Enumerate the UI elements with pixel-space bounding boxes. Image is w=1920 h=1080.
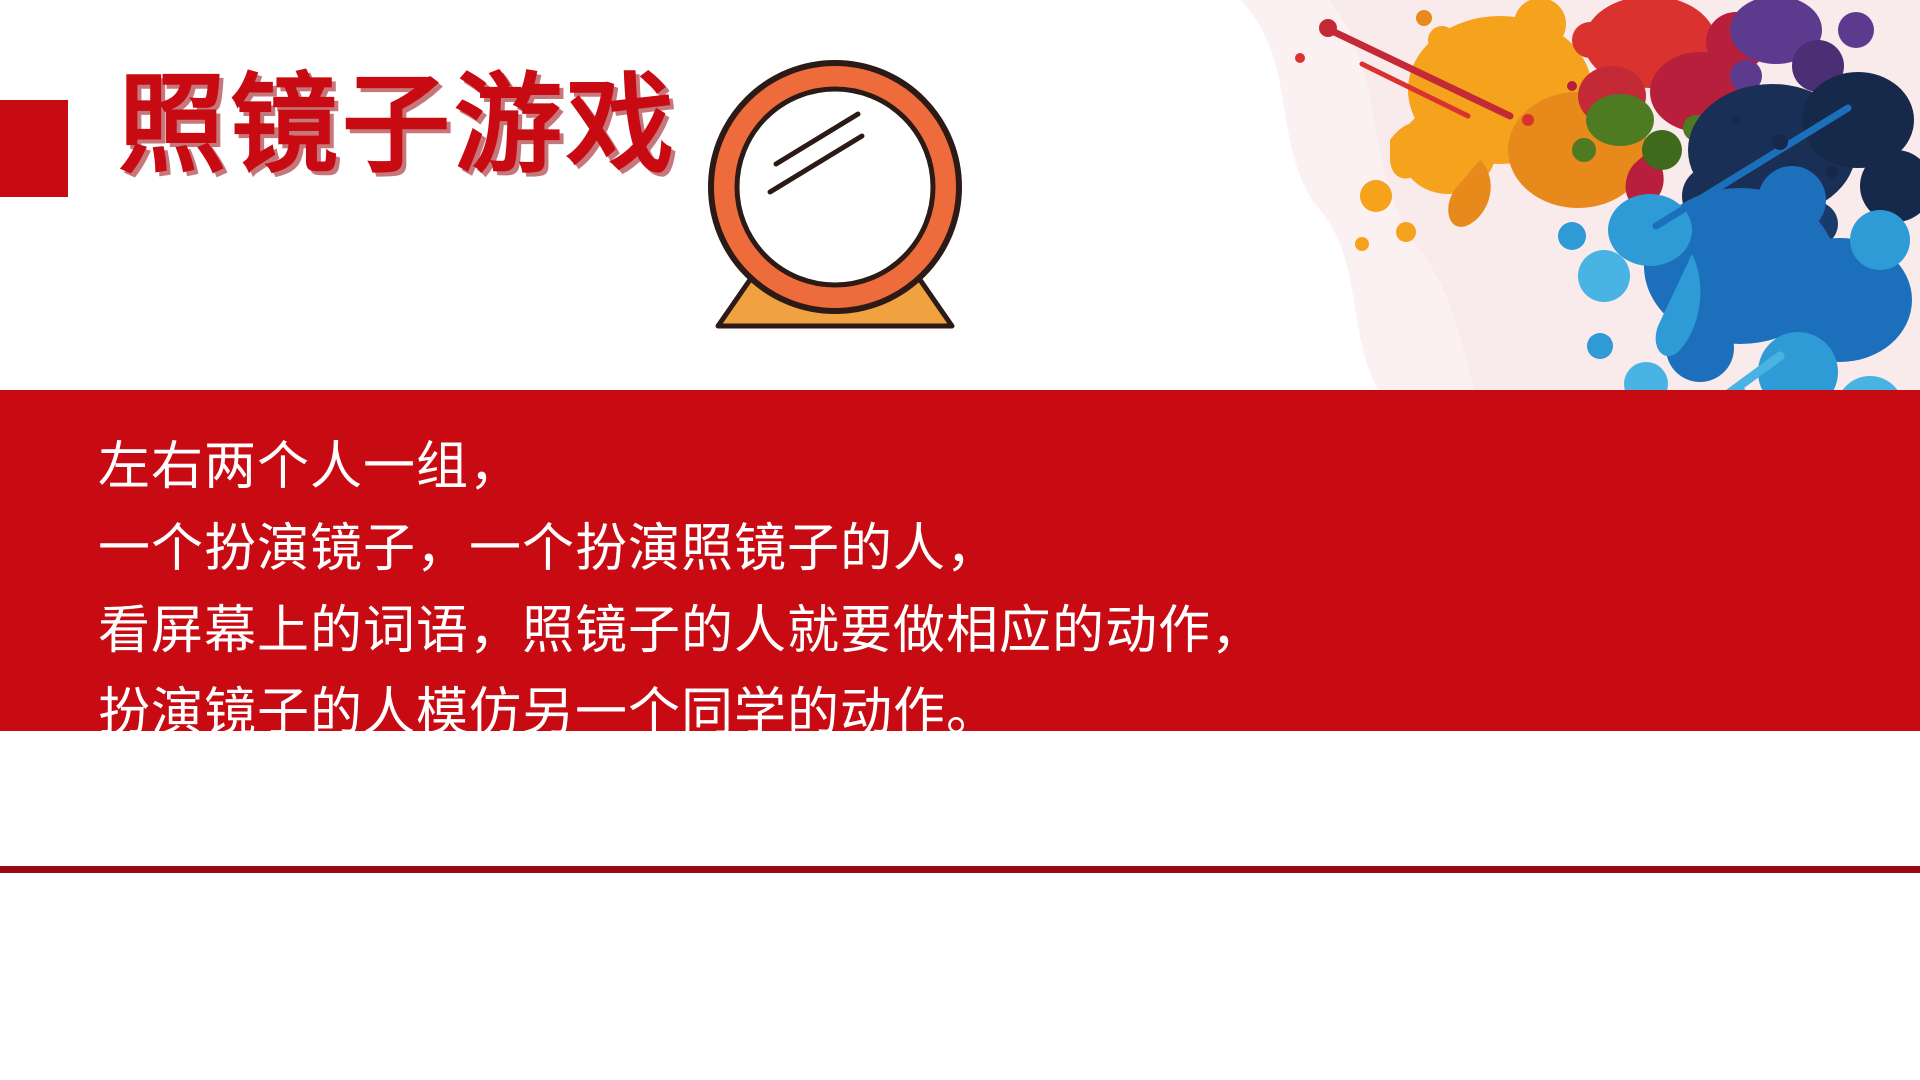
page-title: 照镜子游戏 — [118, 60, 678, 190]
footer-zone — [0, 873, 1920, 1080]
body-line-1: 左右两个人一组， — [98, 426, 1798, 508]
hand-mirror-icon — [690, 52, 980, 332]
body-text-block: 左右两个人一组， 一个扮演镜子，一个扮演照镜子的人， 看屏幕上的词语，照镜子的人… — [98, 426, 1798, 754]
bottom-white-zone — [0, 731, 1920, 866]
title-accent-block — [0, 100, 68, 197]
slide-header: 照镜子游戏 — [0, 0, 1920, 390]
body-line-2: 一个扮演镜子，一个扮演照镜子的人， — [98, 508, 1798, 590]
body-band: 左右两个人一组， 一个扮演镜子，一个扮演照镜子的人， 看屏幕上的词语，照镜子的人… — [0, 390, 1920, 731]
bottom-rule — [0, 866, 1920, 873]
slide-root: 照镜子游戏 — [0, 0, 1920, 1080]
body-line-3: 看屏幕上的词语，照镜子的人就要做相应的动作， — [98, 590, 1798, 672]
